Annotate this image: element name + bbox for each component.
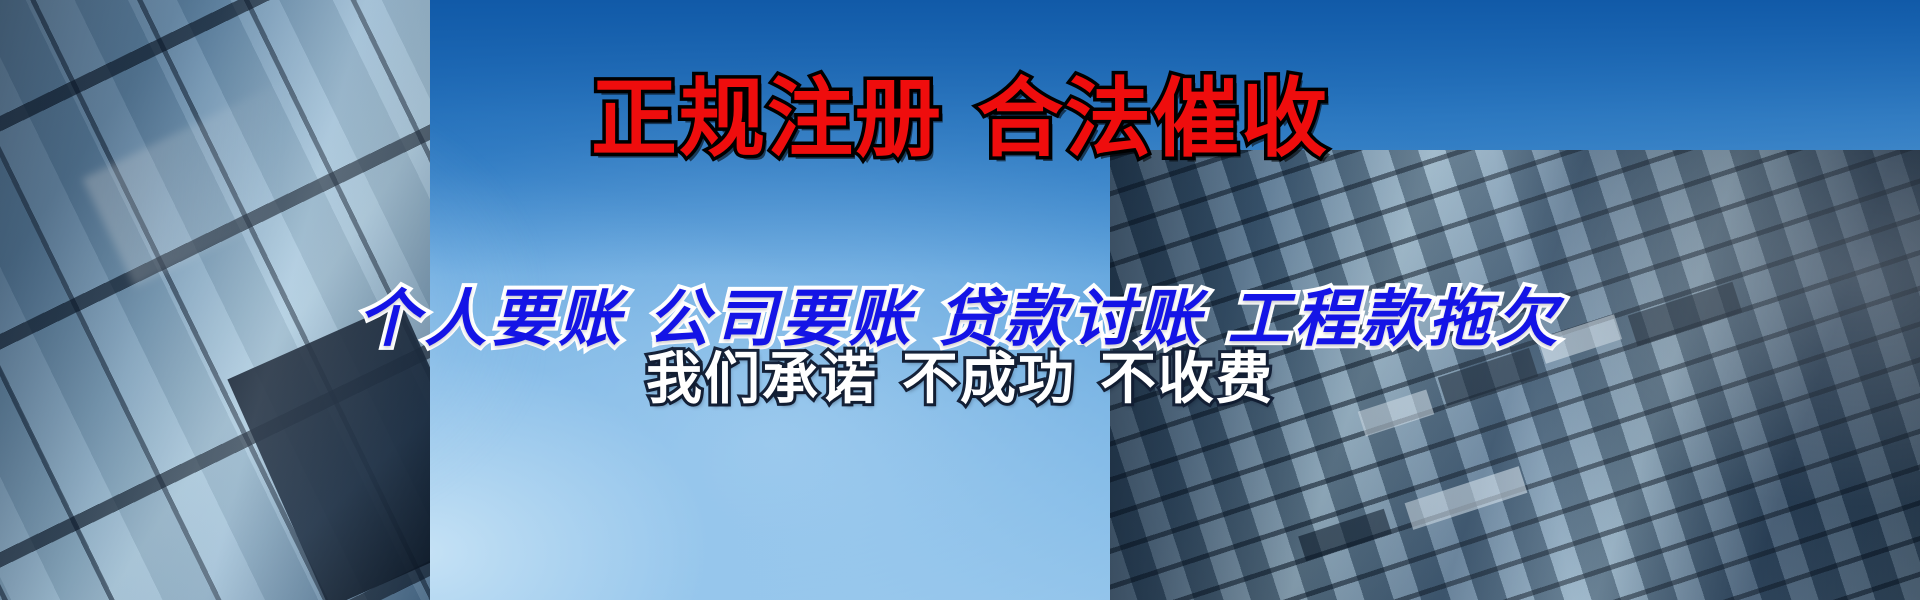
subhead-part-2: 公司要账: [647, 282, 915, 355]
tagline-part-1: 我们承诺: [646, 347, 878, 412]
banner-subheadline: 个人要账公司要账贷款讨账工程款拖欠: [0, 288, 1920, 350]
tagline-part-2: 不成功: [902, 347, 1076, 412]
banner-text-layer: 正规注册合法催收 个人要账公司要账贷款讨账工程款拖欠 我们承诺不成功不收费: [0, 0, 1920, 600]
headline-part-2: 合法催收: [977, 69, 1329, 169]
banner-tagline: 我们承诺不成功不收费: [0, 352, 1920, 408]
subhead-part-4: 工程款拖欠: [1228, 282, 1563, 355]
subhead-part-3: 贷款讨账: [938, 282, 1206, 355]
promo-banner: 正规注册合法催收 个人要账公司要账贷款讨账工程款拖欠 我们承诺不成功不收费: [0, 0, 1920, 600]
headline-part-1: 正规注册: [591, 69, 943, 169]
subhead-part-1: 个人要账: [357, 282, 625, 355]
banner-headline: 正规注册合法催收: [0, 76, 1920, 162]
tagline-part-3: 不收费: [1100, 347, 1274, 412]
